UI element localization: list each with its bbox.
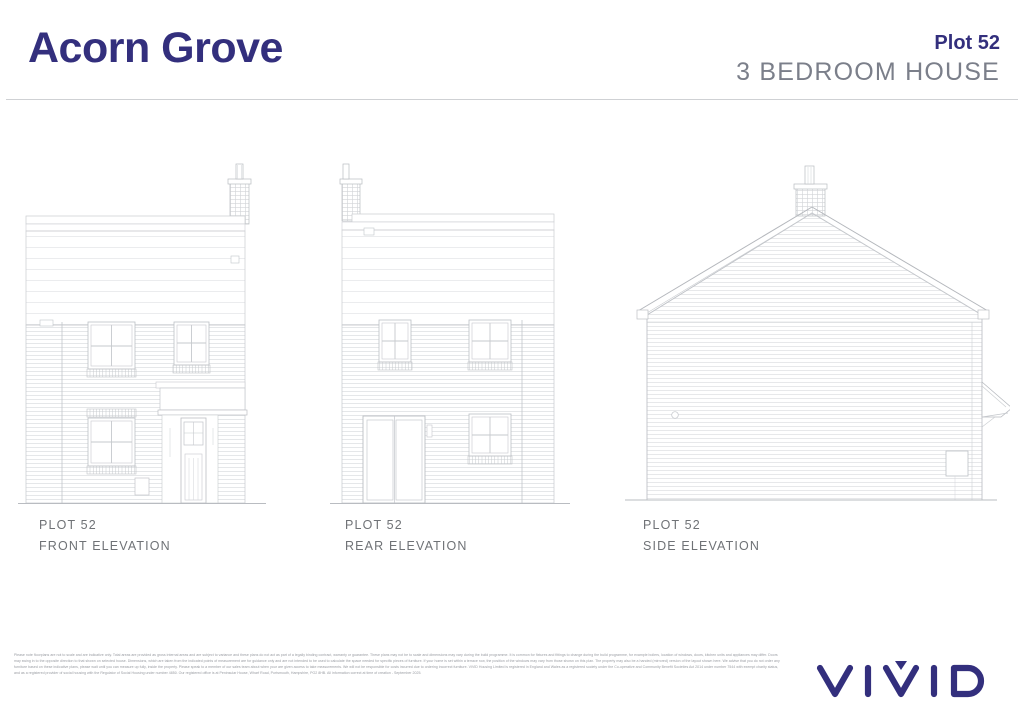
wall-vent [40, 320, 53, 326]
caption-side-elevation: PLOT 52 SIDE ELEVATION [643, 515, 760, 557]
rear-elevation-svg [330, 160, 580, 505]
plot-number: Plot 52 [736, 32, 1000, 55]
window-first-floor-left [87, 322, 136, 377]
house-type: 3 BEDROOM HOUSE [736, 57, 1000, 87]
caption-front-elevation: PLOT 52 FRONT ELEVATION [39, 515, 171, 557]
front-elevation-drawing [18, 160, 278, 505]
upper-storey-render [26, 216, 245, 325]
caption-plot-label: PLOT 52 [39, 515, 171, 536]
external-tap [427, 425, 432, 437]
air-vent [672, 412, 679, 419]
caption-plot-label: PLOT 52 [643, 515, 760, 536]
page-header: Acorn Grove Plot 52 3 BEDROOM HOUSE [0, 0, 1024, 100]
vivid-logo [812, 656, 1002, 704]
chimney [794, 166, 827, 216]
window-first-floor-left [378, 320, 412, 370]
window-first-floor-right [468, 320, 512, 370]
french-doors [363, 416, 425, 503]
caption-rear-elevation: PLOT 52 REAR ELEVATION [345, 515, 468, 557]
chimney [340, 164, 362, 221]
upper-storey-render [342, 214, 554, 325]
elevation-drawings: PLOT 52 FRONT ELEVATION PLOT 52 REAR ELE… [0, 100, 1024, 560]
disclaimer-text: Please note floorplans are not to scale … [14, 652, 780, 676]
header-plot-info: Plot 52 3 BEDROOM HOUSE [736, 32, 1000, 87]
front-door [162, 415, 218, 503]
caption-view-label: FRONT ELEVATION [39, 536, 171, 557]
rear-elevation-drawing [330, 160, 580, 505]
caption-view-label: SIDE ELEVATION [643, 536, 760, 557]
meter-box [135, 478, 149, 495]
window-ground-floor [87, 409, 136, 474]
caption-plot-label: PLOT 52 [345, 515, 468, 536]
vivid-accent-mark [895, 661, 907, 670]
vivid-logo-svg [812, 656, 1002, 704]
meter-box [946, 451, 968, 476]
page-footer: Please note floorplans are not to scale … [0, 646, 1024, 723]
lean-to-porch-roof [982, 382, 1010, 427]
side-elevation-svg [625, 155, 1010, 505]
caption-view-label: REAR ELEVATION [345, 536, 468, 557]
door-canopy [156, 382, 247, 415]
gable-wall [647, 213, 982, 500]
side-elevation-drawing [625, 155, 1010, 505]
front-elevation-svg [18, 160, 278, 505]
window-first-floor-right [173, 322, 210, 373]
window-ground-floor [468, 414, 512, 464]
page-title: Acorn Grove [28, 27, 283, 70]
chimney [228, 164, 251, 224]
